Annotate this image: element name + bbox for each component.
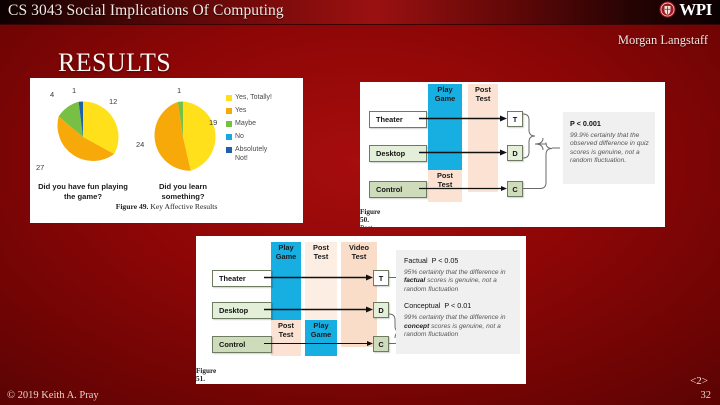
legend-label: No — [235, 133, 244, 142]
page-title: RESULTS — [58, 48, 171, 78]
presentation-slide: CS 3043 Social Implications Of Computing… — [0, 0, 720, 405]
stat-body-pre: 99% certainty that the difference in — [404, 314, 506, 321]
legend-label: Absolutely Not! — [235, 146, 279, 163]
legend-item: Maybe — [226, 120, 279, 129]
author-name: Morgan Langstaff — [618, 33, 708, 48]
figure-50-caption-label: Figure 50. — [360, 208, 380, 224]
legend-swatch-icon — [226, 121, 232, 127]
legend-item: No — [226, 133, 279, 142]
slide-header-bar: CS 3043 Social Implications Of Computing… — [0, 0, 720, 25]
pie-value-label: 1 — [177, 86, 181, 95]
pie-chart-learn — [146, 100, 220, 174]
stat-body-factual: 95% certainty that the difference in fac… — [404, 269, 513, 294]
figure-51-card: Play Game Post Test Video Test Post Test… — [196, 236, 526, 384]
wpi-wordmark: WPI — [679, 1, 712, 18]
pie-value-label: 4 — [50, 90, 54, 99]
legend-label: Yes — [235, 107, 246, 116]
legend-item: Yes, Totally! — [226, 94, 279, 103]
stat-body-emphasis: concept — [404, 323, 429, 330]
stat-box-p-value: P < 0.001 99.9% certainty that the obser… — [563, 112, 655, 184]
legend-label: Maybe — [235, 120, 256, 129]
figure-50-card: Play Game Post Test Post Test Theater De… — [360, 82, 665, 227]
stat-box-significance: Factual P < 0.05 95% certainty that the … — [396, 250, 520, 354]
stat-heading: P < 0.001 — [570, 119, 649, 128]
legend-swatch-icon — [226, 108, 232, 114]
figure-49-caption: Figure 49. Key Affective Results — [30, 202, 303, 211]
figure-50-caption-text: Post Test Sequence and Results. — [360, 224, 388, 227]
legend-swatch-icon — [226, 147, 232, 153]
stat-body: 99.9% certainty that the observed differ… — [570, 132, 649, 166]
footer-page-number: 32 — [701, 390, 712, 401]
footer-copyright: © 2019 Keith A. Pray — [7, 390, 99, 401]
figure-49-chart-area: 4 1 12 27 Did you have fun playing the g… — [30, 78, 303, 223]
pie-value-label: 1 — [72, 86, 76, 95]
stat-heading-pvalue: P < 0.05 — [432, 256, 459, 265]
legend-label: Yes, Totally! — [235, 94, 272, 103]
course-title: CS 3043 Social Implications Of Computing — [8, 2, 284, 20]
legend-swatch-icon — [226, 95, 232, 101]
stat-heading-conceptual: Conceptual P < 0.01 — [404, 301, 513, 310]
pie-value-label: 27 — [36, 163, 44, 172]
pie-question-fun: Did you have fun playing the game? — [38, 182, 128, 202]
legend-item: Absolutely Not! — [226, 146, 279, 163]
stat-heading-factual: Factual P < 0.05 — [404, 256, 513, 265]
slide-marker: <2> — [690, 375, 708, 387]
stat-heading-term: Conceptual — [404, 301, 440, 310]
legend-item: Yes — [226, 107, 279, 116]
pie-legend: Yes, Totally! Yes Maybe No Absolutely No… — [226, 94, 279, 168]
figure-49-caption-text: Key Affective Results — [150, 202, 217, 211]
wpi-seal-icon — [659, 1, 676, 18]
stat-body-emphasis: factual — [404, 277, 425, 284]
pie-chart-fun — [46, 100, 120, 174]
pie-value-label: 12 — [109, 97, 117, 106]
pie-question-learn: Did you learn something? — [138, 182, 228, 202]
figure-51-caption-label: Figure 51. — [196, 367, 216, 383]
figure-49-card: 4 1 12 27 Did you have fun playing the g… — [30, 78, 303, 223]
stat-heading-pvalue: P < 0.01 — [444, 301, 471, 310]
legend-swatch-icon — [226, 134, 232, 140]
stat-body-conceptual: 99% certainty that the difference in con… — [404, 314, 513, 339]
wpi-logo: WPI — [659, 1, 712, 18]
pie-value-label: 24 — [136, 140, 144, 149]
figure-49-caption-label: Figure 49. — [116, 202, 149, 211]
pie-value-label: 19 — [209, 118, 217, 127]
stat-body-pre: 95% certainty that the difference in — [404, 269, 506, 276]
figure-51-caption-text: Video Test Sequence and Results. — [196, 383, 224, 384]
stat-heading-term: Factual — [404, 256, 428, 265]
